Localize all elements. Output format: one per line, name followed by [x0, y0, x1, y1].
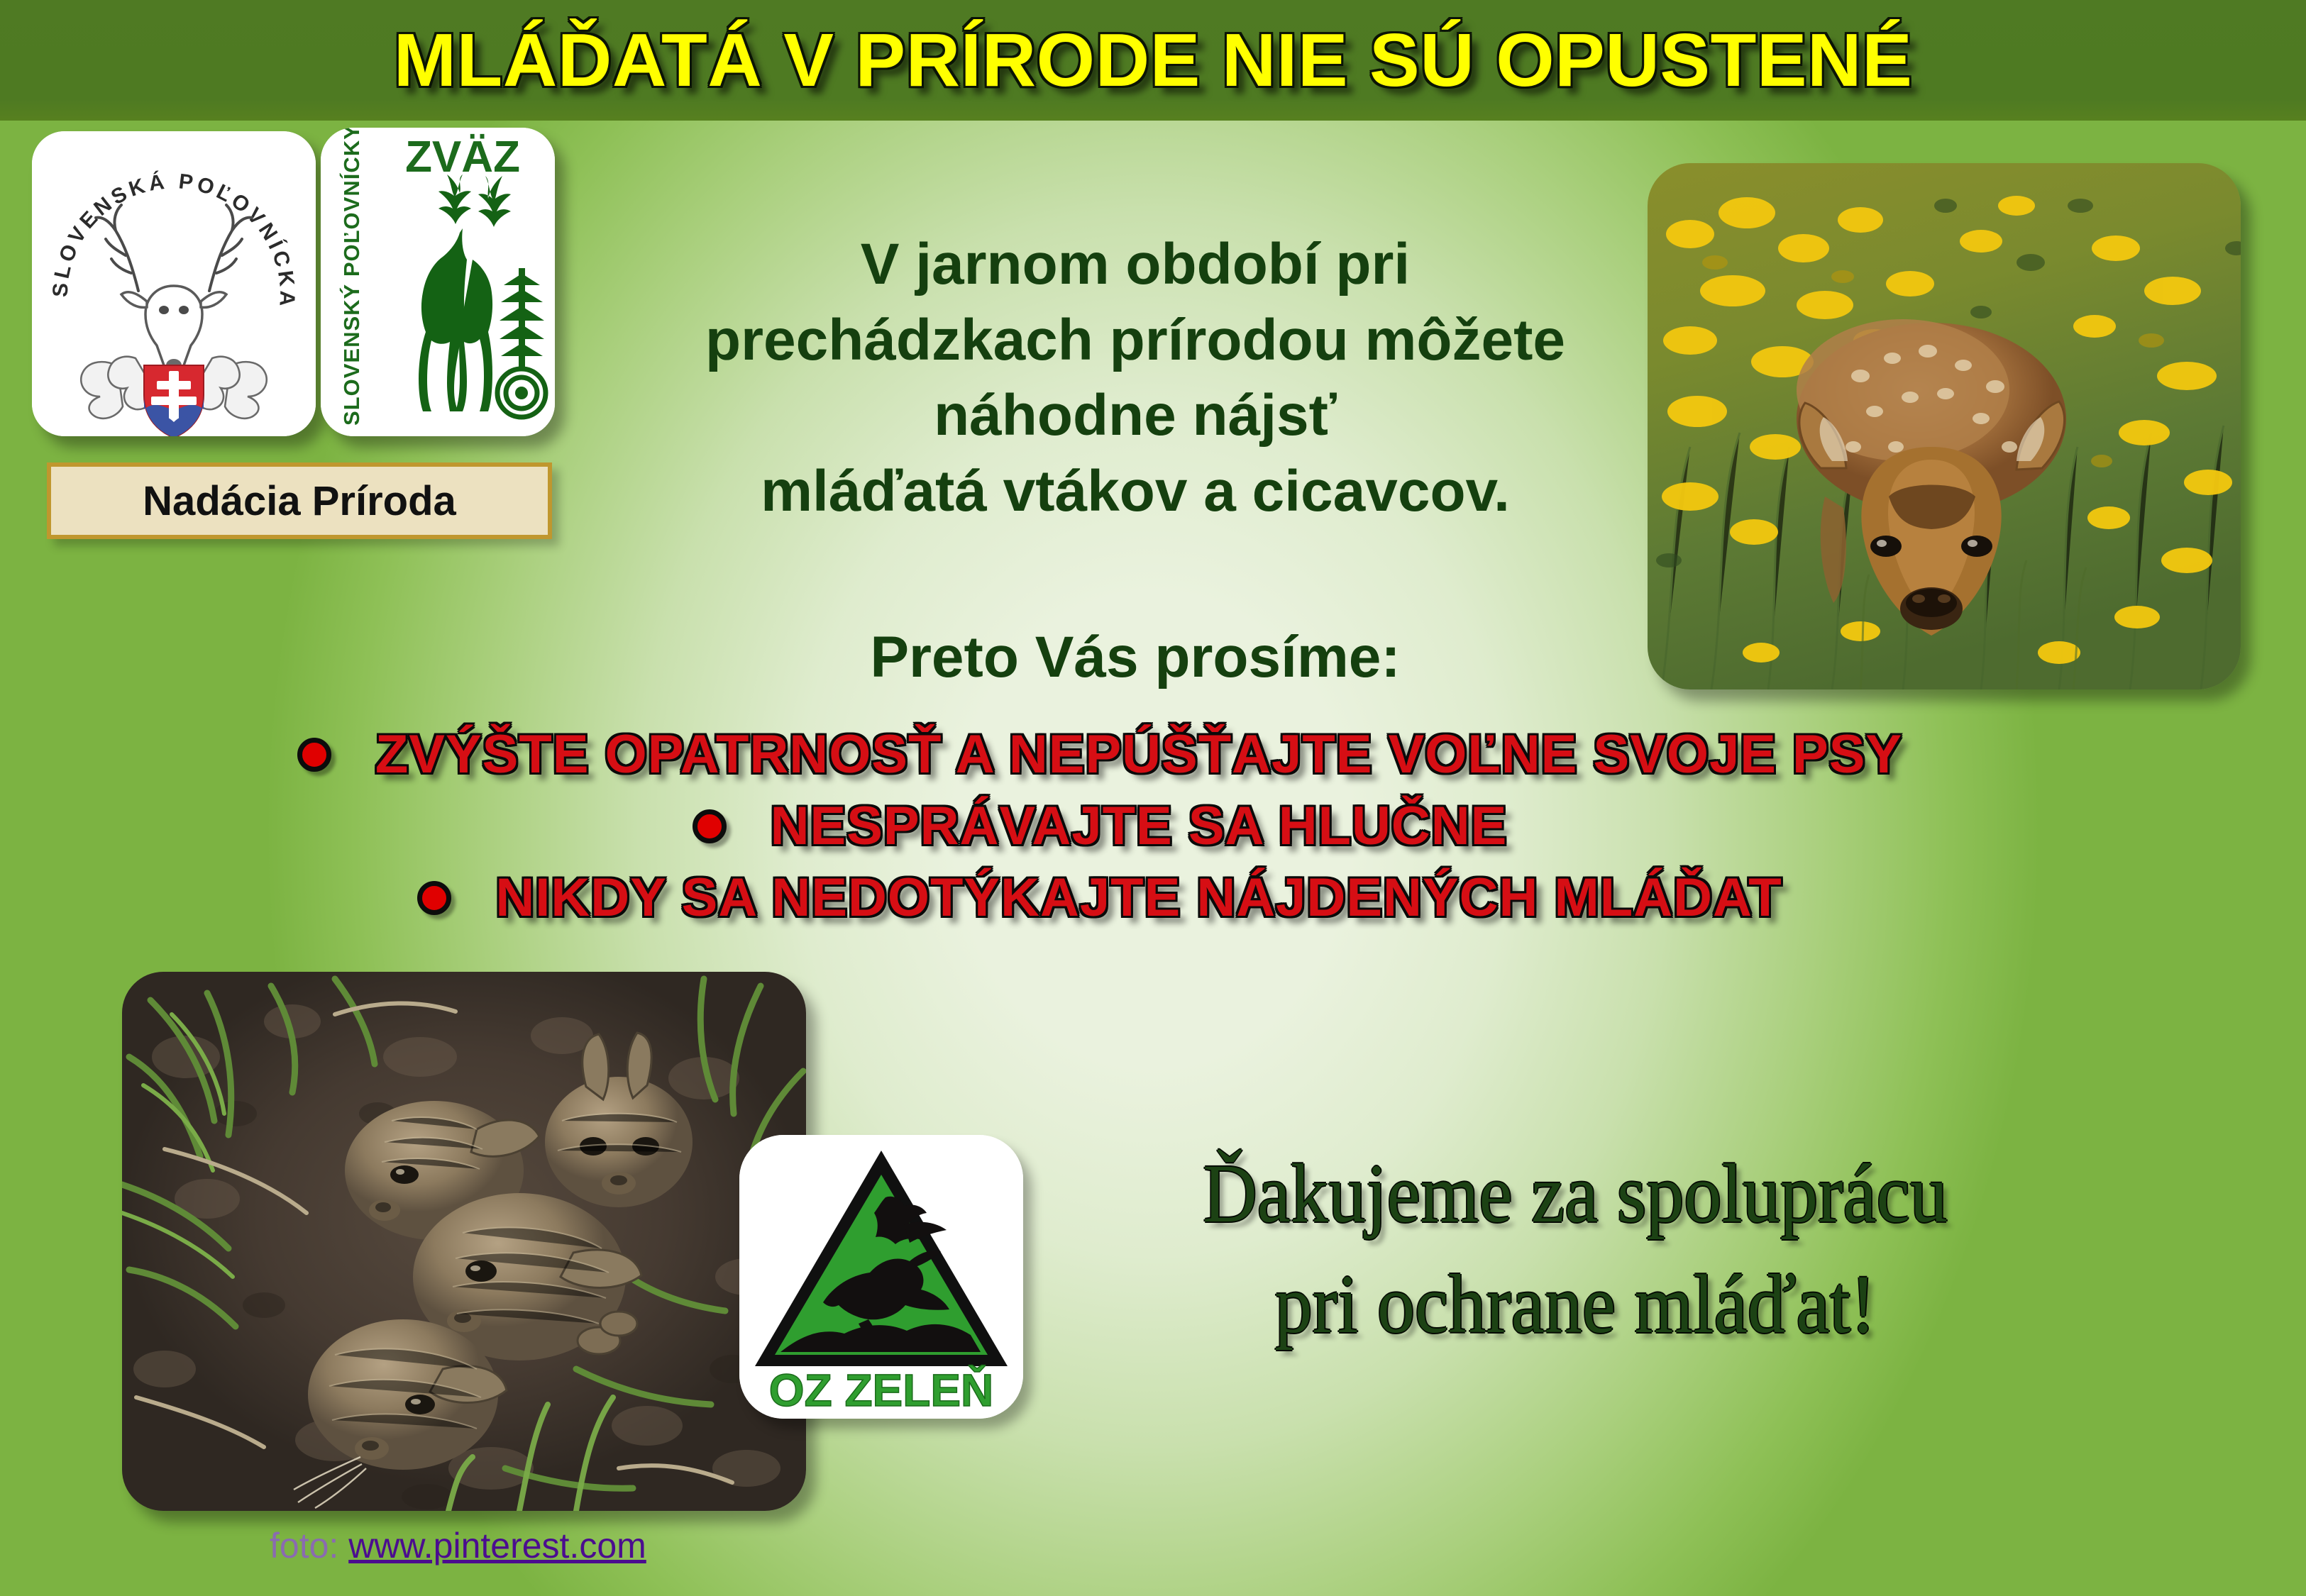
- oz-zelen-caption: OZ ZELEŇ: [769, 1364, 993, 1416]
- spk-logo-graphic: SLOVENSKÁ POĽOVNÍCKA KOMORA: [32, 131, 316, 436]
- intro-paragraph: V jarnom období pri prechádzkach prírodo…: [639, 227, 1632, 529]
- nadacia-priroda-badge: Nadácia Príroda: [47, 462, 552, 539]
- photo-credit: foto: www.pinterest.com: [270, 1525, 646, 1566]
- thanks-line-1: Ďakujeme za spoluprácu: [1103, 1138, 2048, 1249]
- page-title: MLÁĎATÁ V PRÍRODE NIE SÚ OPUSTENÉ: [0, 0, 2306, 121]
- baby-hares-photo: [122, 972, 806, 1511]
- svg-text:ZVÄZ: ZVÄZ: [405, 133, 520, 182]
- list-item: ZVÝŠTE OPATRNOSŤ A NEPÚŠŤAJTE VOĽNE SVOJ…: [106, 724, 2093, 785]
- rule-text-3: NIKDY SA NEDOTÝKAJTE NÁJDENÝCH MLÁĎAT: [495, 867, 1782, 929]
- rules-list: ZVÝŠTE OPATRNOSŤ A NEPÚŠŤAJTE VOĽNE SVOJ…: [106, 724, 2093, 938]
- svg-text:SLOVENSKÝ POĽOVNÍCKY: SLOVENSKÝ POĽOVNÍCKY: [339, 128, 364, 426]
- request-heading: Preto Vás prosíme:: [639, 624, 1632, 691]
- fawn-in-meadow-photo: [1648, 163, 2241, 689]
- intro-line-1: V jarnom období pri: [639, 227, 1632, 303]
- szv-logo: ZVÄZ SLOVENSKÝ POĽOVNÍCKY: [321, 128, 555, 436]
- poster-canvas: MLÁĎATÁ V PRÍRODE NIE SÚ OPUSTENÉ SLOVEN…: [0, 0, 2306, 1596]
- list-item: NIKDY SA NEDOTÝKAJTE NÁJDENÝCH MLÁĎAT: [106, 867, 2093, 929]
- nadacia-priroda-label: Nadácia Príroda: [143, 477, 456, 525]
- title-bar: MLÁĎATÁ V PRÍRODE NIE SÚ OPUSTENÉ: [0, 0, 2306, 121]
- bullet-icon: [417, 881, 451, 915]
- intro-line-2: prechádzkach prírodou môžete: [639, 303, 1632, 379]
- oz-zelen-logo: OZ ZELEŇ: [739, 1135, 1023, 1419]
- intro-line-4: mláďatá vtákov a cicavcov.: [639, 454, 1632, 530]
- rule-text-1: ZVÝŠTE OPATRNOSŤ A NEPÚŠŤAJTE VOĽNE SVOJ…: [375, 724, 1902, 785]
- list-item: NESPRÁVAJTE SA HLUČNE: [106, 795, 2093, 857]
- intro-line-3: náhodne nájsť: [639, 378, 1632, 454]
- thanks-message: Ďakujeme za spoluprácu pri ochrane mláďa…: [1103, 1138, 2048, 1360]
- bullet-icon: [693, 809, 727, 843]
- thanks-line-2: pri ochrane mláďat!: [1103, 1249, 2048, 1360]
- photo-credit-label: foto:: [270, 1526, 338, 1565]
- pinterest-link[interactable]: www.pinterest.com: [348, 1526, 646, 1565]
- hare-photo-art: [122, 972, 806, 1511]
- spk-logo: SLOVENSKÁ POĽOVNÍCKA KOMORA: [32, 131, 316, 436]
- szv-logo-graphic: ZVÄZ SLOVENSKÝ POĽOVNÍCKY: [321, 128, 555, 436]
- bullet-icon: [297, 738, 331, 772]
- rule-text-2: NESPRÁVAJTE SA HLUČNE: [771, 795, 1508, 857]
- oz-zelen-graphic: OZ ZELEŇ: [739, 1135, 1023, 1419]
- fawn-photo-art: [1648, 163, 2241, 689]
